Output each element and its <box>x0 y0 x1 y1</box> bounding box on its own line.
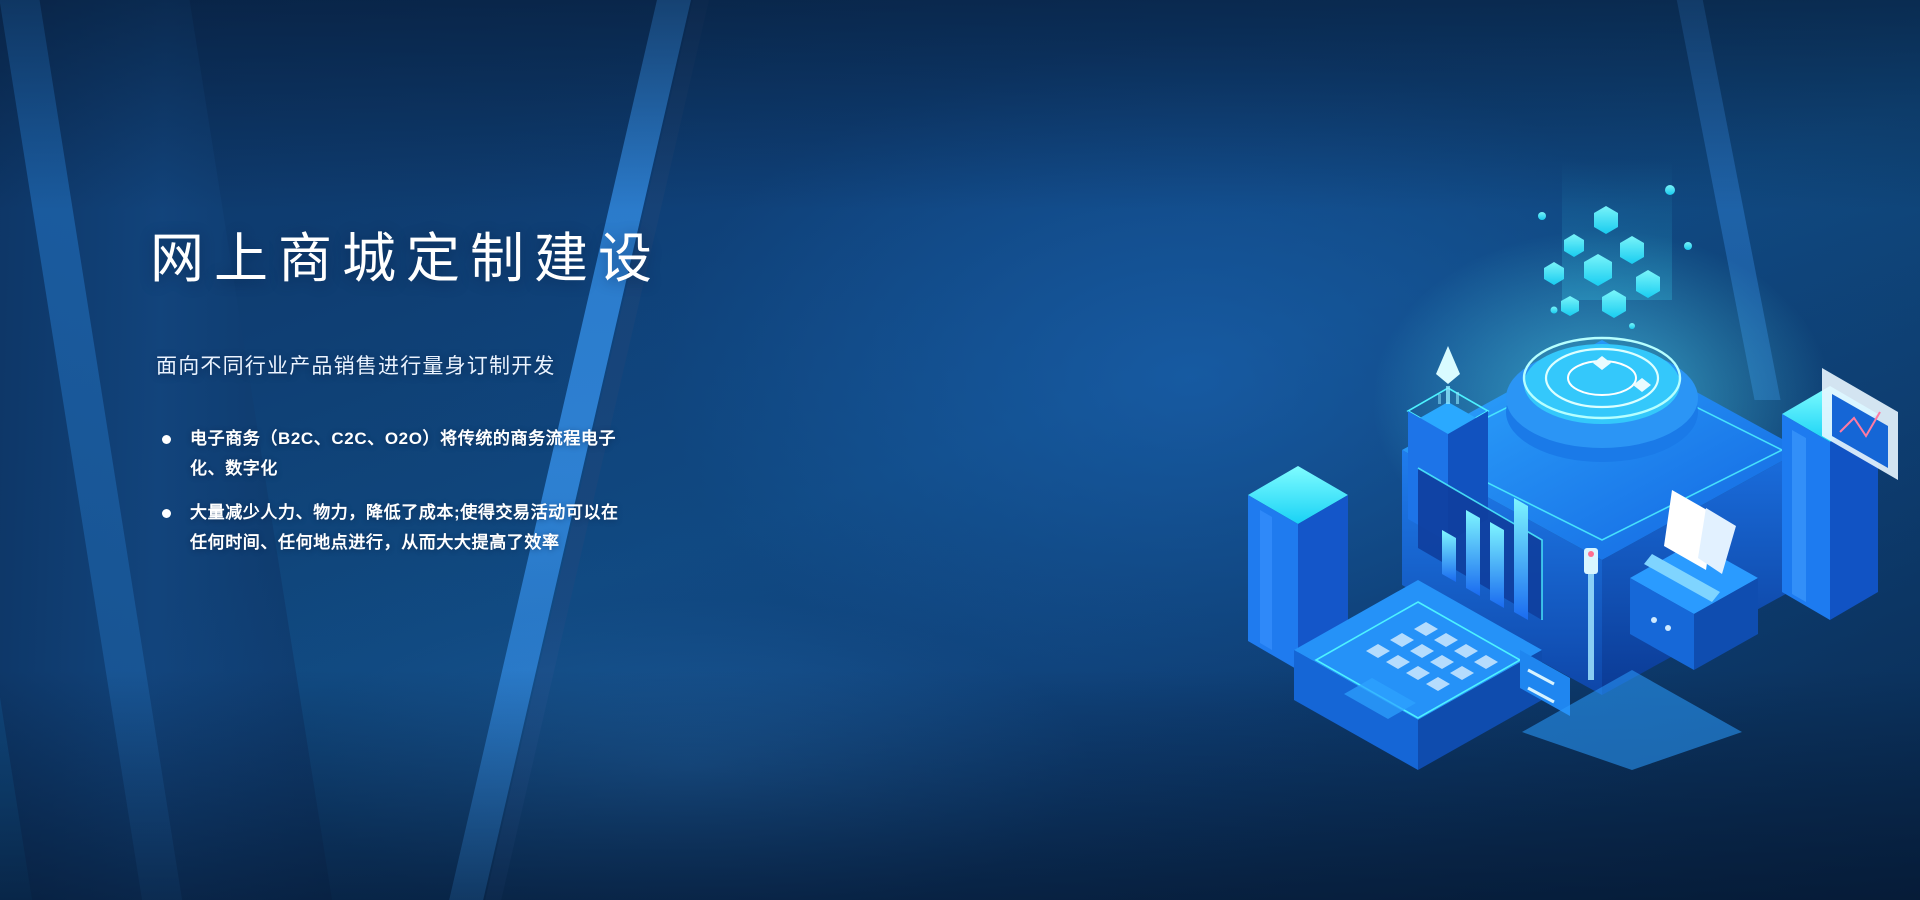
page-title: 网上商城定制建设 <box>150 228 910 292</box>
isometric-illustration <box>1202 150 1902 770</box>
feature-list: 电子商务（B2C、C2C、O2O）将传统的商务流程电子化、数字化 大量减少人力、… <box>154 424 910 559</box>
page-subtitle: 面向不同行业产品销售进行量身订制开发 <box>156 350 910 380</box>
list-item: 电子商务（B2C、C2C、O2O）将传统的商务流程电子化、数字化 <box>154 424 624 485</box>
printer-led-2 <box>1665 625 1671 631</box>
hero-copy: 网上商城定制建设 面向不同行业产品销售进行量身订制开发 电子商务（B2C、C2C… <box>150 228 910 573</box>
rocket-trail-1 <box>1446 386 1450 404</box>
hero-banner: 网上商城定制建设 面向不同行业产品销售进行量身订制开发 电子商务（B2C、C2C… <box>0 0 1920 900</box>
pole-indicator <box>1588 551 1594 557</box>
list-item: 大量减少人力、物力，降低了成本;使得交易活动可以在任何时间、任何地点进行，从而大… <box>154 498 624 559</box>
printer-led-1 <box>1651 617 1657 623</box>
tower-right-stripe <box>1792 430 1806 602</box>
rocket-trail-2 <box>1456 392 1459 404</box>
pole <box>1588 570 1594 680</box>
tower-left-stripe <box>1260 510 1272 650</box>
rocket-trail-3 <box>1438 394 1441 404</box>
tower-left-face-a <box>1248 495 1298 670</box>
